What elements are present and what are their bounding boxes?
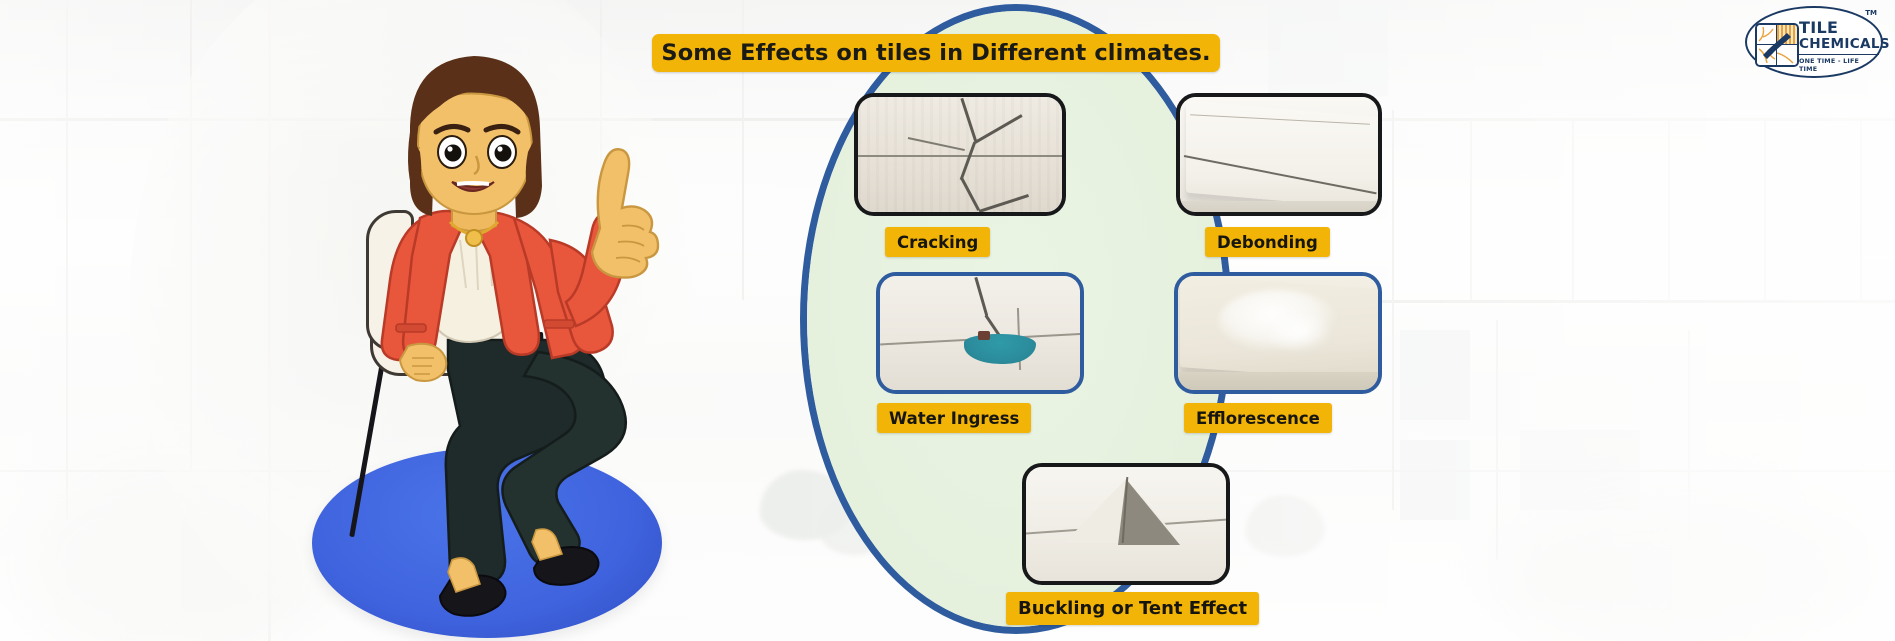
logo-line-1: TILE [1799, 20, 1879, 36]
effect-label-cracking: Cracking [885, 227, 990, 257]
effect-label-text: Cracking [897, 233, 978, 252]
effect-card-buckling[interactable] [1022, 463, 1230, 585]
logo-line-2: CHEMICALS [1799, 38, 1879, 52]
left-hand [400, 344, 446, 381]
blazer-pocket [396, 324, 426, 332]
effect-card-water-ingress[interactable] [876, 272, 1084, 394]
blazer-pocket [544, 320, 574, 328]
efflorescence-image [1178, 276, 1378, 390]
effect-label-text: Water Ingress [889, 409, 1019, 428]
pupil [445, 145, 462, 162]
presenter-woman-illustration [300, 40, 720, 641]
teeth [457, 183, 489, 184]
effect-label-water-ingress: Water Ingress [877, 403, 1031, 433]
logo-divider [1799, 54, 1879, 56]
logo-wordmark: TILE CHEMICALS ONE TIME - LIFE TIME [1799, 20, 1879, 73]
trademark-symbol: TM [1865, 9, 1877, 17]
tile-edge-shadow [1178, 372, 1378, 390]
logo-tagline: ONE TIME - LIFE TIME [1799, 57, 1879, 73]
effect-card-debonding[interactable] [1176, 93, 1382, 216]
tile-effects-banner: Some Effects on tiles in Different clima… [0, 0, 1895, 641]
effect-card-cracking[interactable] [854, 93, 1066, 216]
tile-chemicals-logo[interactable]: TM TILE [1745, 6, 1883, 78]
debonding-image [1180, 97, 1378, 212]
banner-title: Some Effects on tiles in Different clima… [652, 34, 1220, 72]
effect-label-debonding: Debonding [1205, 227, 1330, 257]
effect-label-text: Buckling or Tent Effect [1018, 598, 1247, 619]
effect-label-text: Efflorescence [1196, 409, 1320, 428]
water-ingress-image [880, 276, 1080, 390]
eye-highlight [447, 146, 452, 151]
grout-line [858, 155, 1062, 157]
effect-label-efflorescence: Efflorescence [1184, 403, 1332, 433]
necklace-pendant [466, 230, 482, 246]
salt-deposit [1264, 310, 1334, 354]
trowel-icon [1757, 25, 1797, 65]
water-entry-hole [978, 331, 990, 340]
eye-highlight [497, 146, 502, 151]
buckling-image [1026, 467, 1226, 581]
cracking-image [858, 97, 1062, 212]
woman-figure [300, 40, 720, 641]
effect-card-efflorescence[interactable] [1174, 272, 1382, 394]
tile-trowel-icon [1755, 23, 1799, 67]
banner-title-text: Some Effects on tiles in Different clima… [661, 40, 1210, 66]
pupil [495, 145, 512, 162]
tile-edge-shadow [1180, 201, 1378, 212]
effect-label-text: Debonding [1217, 233, 1318, 252]
effect-label-buckling: Buckling or Tent Effect [1006, 592, 1259, 625]
